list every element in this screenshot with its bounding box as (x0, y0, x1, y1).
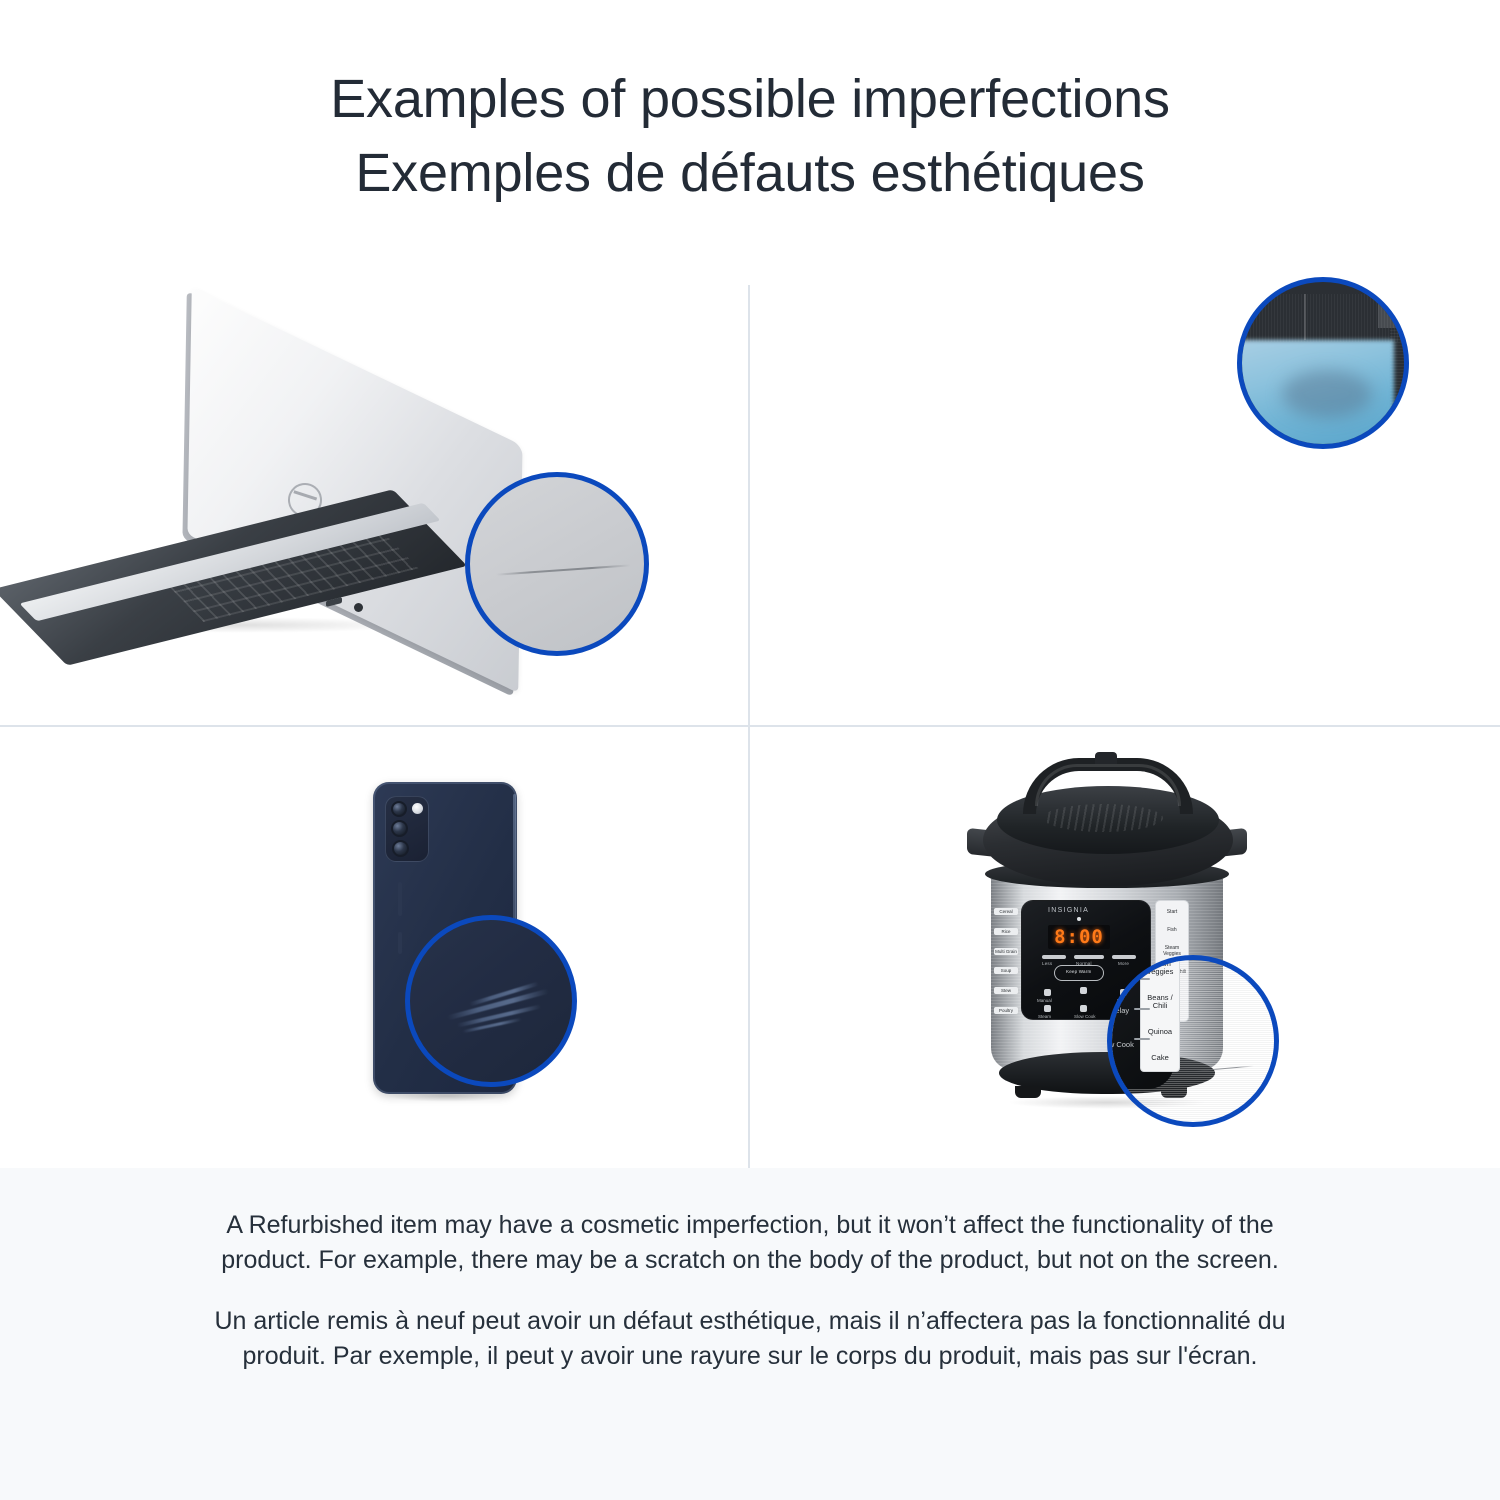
magnifier-cooker-scratch: Delay Slow Cook Steam Veggies Beans / Ch… (1107, 955, 1279, 1127)
smartphone-panel (0, 727, 748, 1168)
cooker-label-less: Less (1042, 961, 1052, 966)
magnified-button-quinoa[interactable]: Quinoa (1148, 1028, 1172, 1037)
cooker-label-steam: Steam (1038, 1014, 1051, 1019)
cooker-key[interactable] (1044, 989, 1051, 996)
magnified-tv-corner (1242, 282, 1404, 444)
button-separator (1134, 1038, 1150, 1040)
cooker-button-fish[interactable]: Fish (1167, 928, 1176, 934)
scratch-mark (1196, 1065, 1254, 1071)
cooker-display-value: 8:00 (1054, 926, 1104, 948)
magnifier-laptop-scratch (465, 472, 649, 656)
cooker-button[interactable]: Rice (994, 928, 1018, 935)
camera-flash-icon (412, 803, 423, 814)
cooker-key[interactable] (1080, 1005, 1087, 1012)
cooker-foot (1015, 1086, 1041, 1098)
refurbished-imperfections-infographic: Examples of possible imperfections Exemp… (0, 0, 1500, 1500)
cooker-button[interactable]: Stew (994, 987, 1018, 994)
cooker-lcd-display: 8:00 (1048, 925, 1110, 949)
scratch-mark (496, 564, 631, 575)
button-separator (1134, 978, 1150, 980)
camera-lens-icon (391, 820, 408, 837)
magnified-label-slowcook: Slow Cook (1107, 1040, 1134, 1049)
cooker-level-bar (1112, 955, 1136, 959)
title-line-french: Exemples de défauts esthétiques (0, 136, 1500, 210)
cooker-level-bar (1042, 955, 1066, 959)
pressure-cooker-panel: Cereal Rice Multi Grain Soup Stew Poultr… (750, 727, 1500, 1168)
cooker-key[interactable] (1044, 1005, 1051, 1012)
camera-lens-icon (392, 840, 409, 857)
cooker-button[interactable]: Poultry (994, 1007, 1018, 1014)
cooker-label-slowcook: Slow Cook (1074, 1014, 1096, 1019)
disclaimer-english: A Refurbished item may have a cosmetic i… (180, 1208, 1320, 1278)
magnified-button-column[interactable]: Steam Veggies Beans / Chili Quinoa Cake (1140, 955, 1180, 1072)
magnified-button-cake[interactable]: Cake (1151, 1054, 1169, 1063)
disclaimer-french: Un article remis à neuf peut avoir un dé… (180, 1304, 1320, 1374)
magnified-label-delay: Delay (1110, 1006, 1129, 1015)
cooker-handle-highlight (1035, 764, 1181, 806)
disclaimer-panel: A Refurbished item may have a cosmetic i… (0, 1168, 1500, 1500)
cooker-brand-label: INSIGNIA (1048, 907, 1089, 914)
camera-lens-icon (391, 801, 407, 817)
camera-module-icon (385, 796, 429, 862)
laptop-panel (0, 285, 748, 725)
cooker-left-button-column[interactable]: Cereal Rice Multi Grain Soup Stew Poultr… (993, 902, 1019, 1020)
cooker-label-keepwarm: Keep Warm (1066, 969, 1091, 974)
cooker-key[interactable] (1080, 987, 1087, 994)
cooker-button-start[interactable]: Start (1167, 910, 1178, 916)
button-separator (1134, 1008, 1150, 1010)
cooker-label-manual: Manual (1037, 998, 1052, 1003)
magnified-cloud (1282, 370, 1372, 418)
magnifier-phone-scuff (405, 915, 577, 1087)
cooker-button[interactable]: Multi Grain (994, 948, 1018, 955)
magnified-button-steam-veggies[interactable]: Steam Veggies (1141, 960, 1179, 977)
power-button (398, 932, 402, 954)
title-line-english: Examples of possible imperfections (0, 62, 1500, 136)
cooker-button[interactable]: Cereal (994, 908, 1018, 915)
volume-button (398, 882, 402, 916)
cooker-indicator-light (1077, 917, 1081, 921)
laptop-audio-port (354, 603, 363, 612)
bezel-scratch-seam (1304, 294, 1306, 340)
cooker-steam-valve (1095, 752, 1117, 764)
cooker-button[interactable]: Soup (994, 967, 1018, 974)
cooker-level-bar (1074, 955, 1104, 959)
page-title: Examples of possible imperfections Exemp… (0, 62, 1500, 210)
magnifier-tv-bezel-scratch (1237, 277, 1409, 449)
